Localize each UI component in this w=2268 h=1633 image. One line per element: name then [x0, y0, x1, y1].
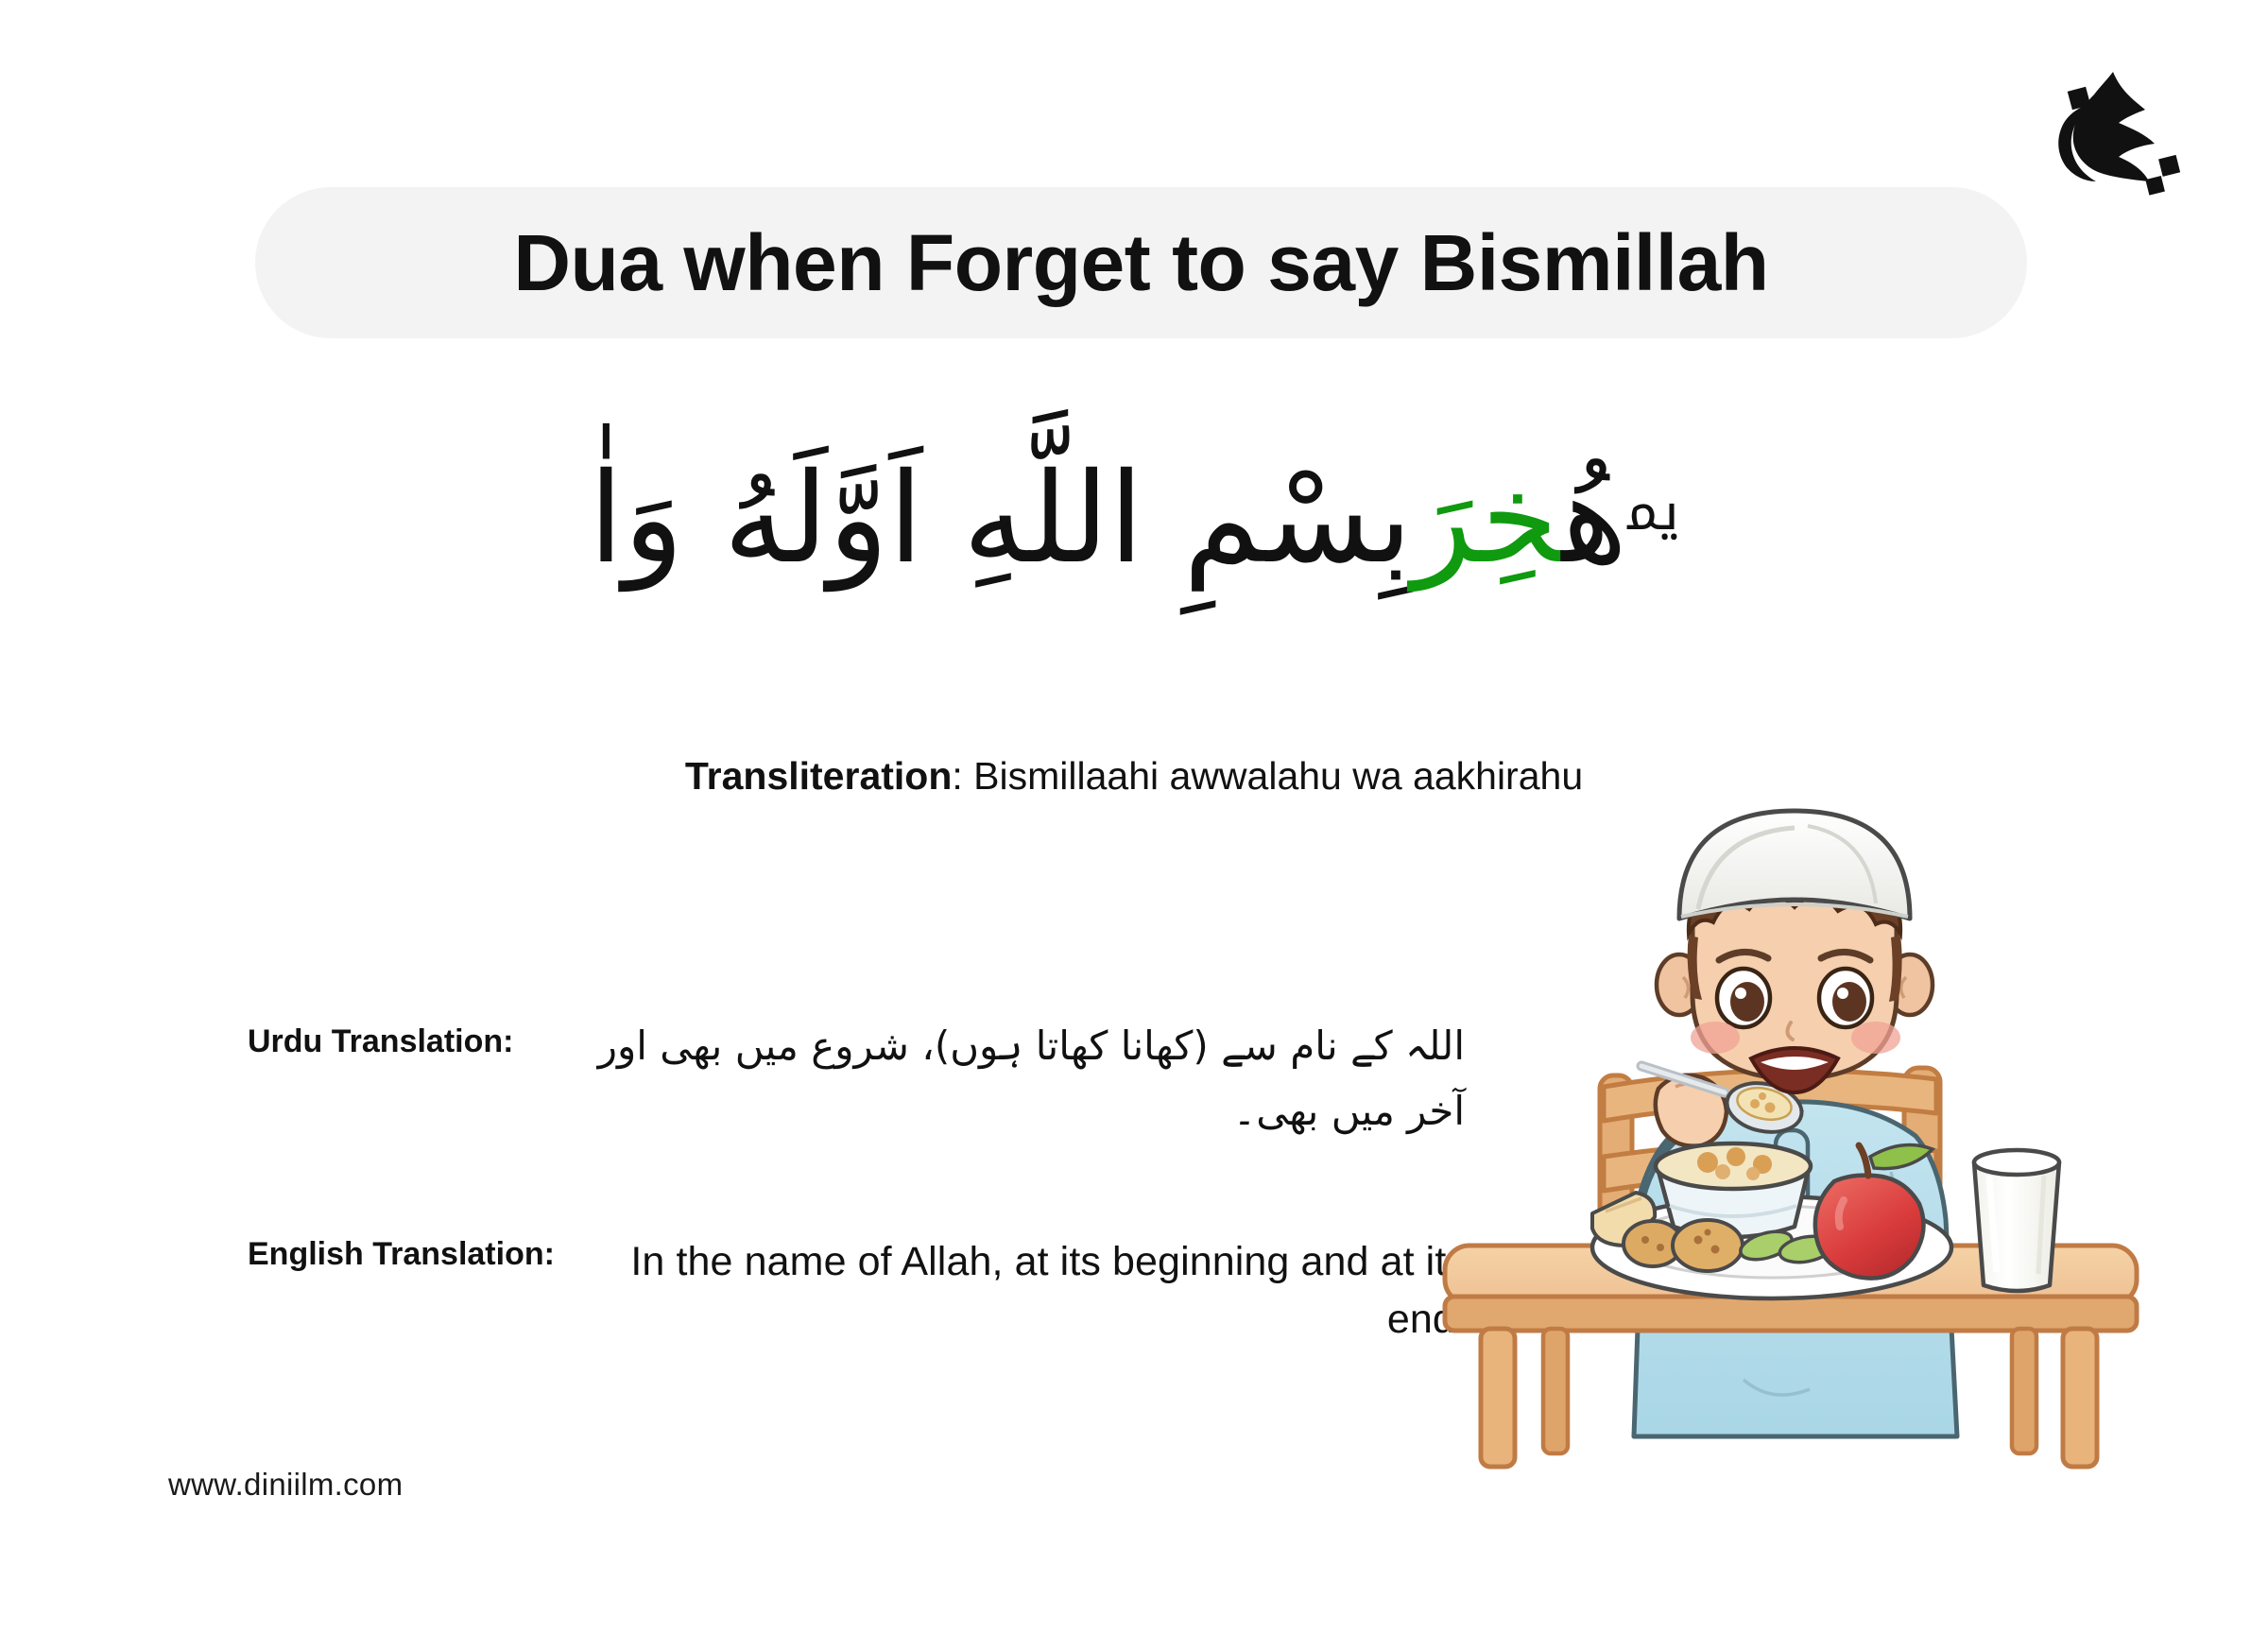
transliteration-label: Transliteration — [685, 754, 953, 798]
brand-logo — [2022, 59, 2221, 200]
english-translation-label: English Translation: — [248, 1233, 555, 1277]
page-title-pill: Dua when Forget to say Bismillah — [255, 187, 2027, 338]
arabic-waqf-mark: ﳝ — [1627, 481, 1679, 542]
urdu-translation-row: Urdu Translation: اللہ کے نام سے (کھانا … — [248, 1013, 1467, 1144]
arabic-text-highlight: خِرَ — [1412, 446, 1561, 592]
urdu-translation-value: اللہ کے نام سے (کھانا کھاتا ہوں)، شروع م… — [541, 1013, 1467, 1144]
arabic-dua-text: ﳝهُخِرَبِسْمِ اللَّهِ اَوَّلَهُ وَاٰ — [0, 425, 2268, 612]
arabic-text-part2: هُ — [1561, 446, 1627, 592]
boy-head — [1657, 811, 1933, 1092]
transliteration-separator: : — [952, 754, 973, 798]
arabic-text-part1: بِسْمِ اللَّهِ اَوَّلَهُ وَاٰ — [589, 446, 1412, 592]
illustration-muslim-boy-eating — [1432, 775, 2150, 1474]
page-title: Dua when Forget to say Bismillah — [513, 223, 1768, 302]
urdu-translation-label: Urdu Translation: — [248, 1013, 513, 1064]
english-translation-value: In the name of Allah, at its beginning a… — [591, 1233, 1467, 1349]
website-url: www.diniilm.com — [168, 1467, 403, 1503]
english-translation-row: English Translation: In the name of Alla… — [248, 1233, 1467, 1349]
